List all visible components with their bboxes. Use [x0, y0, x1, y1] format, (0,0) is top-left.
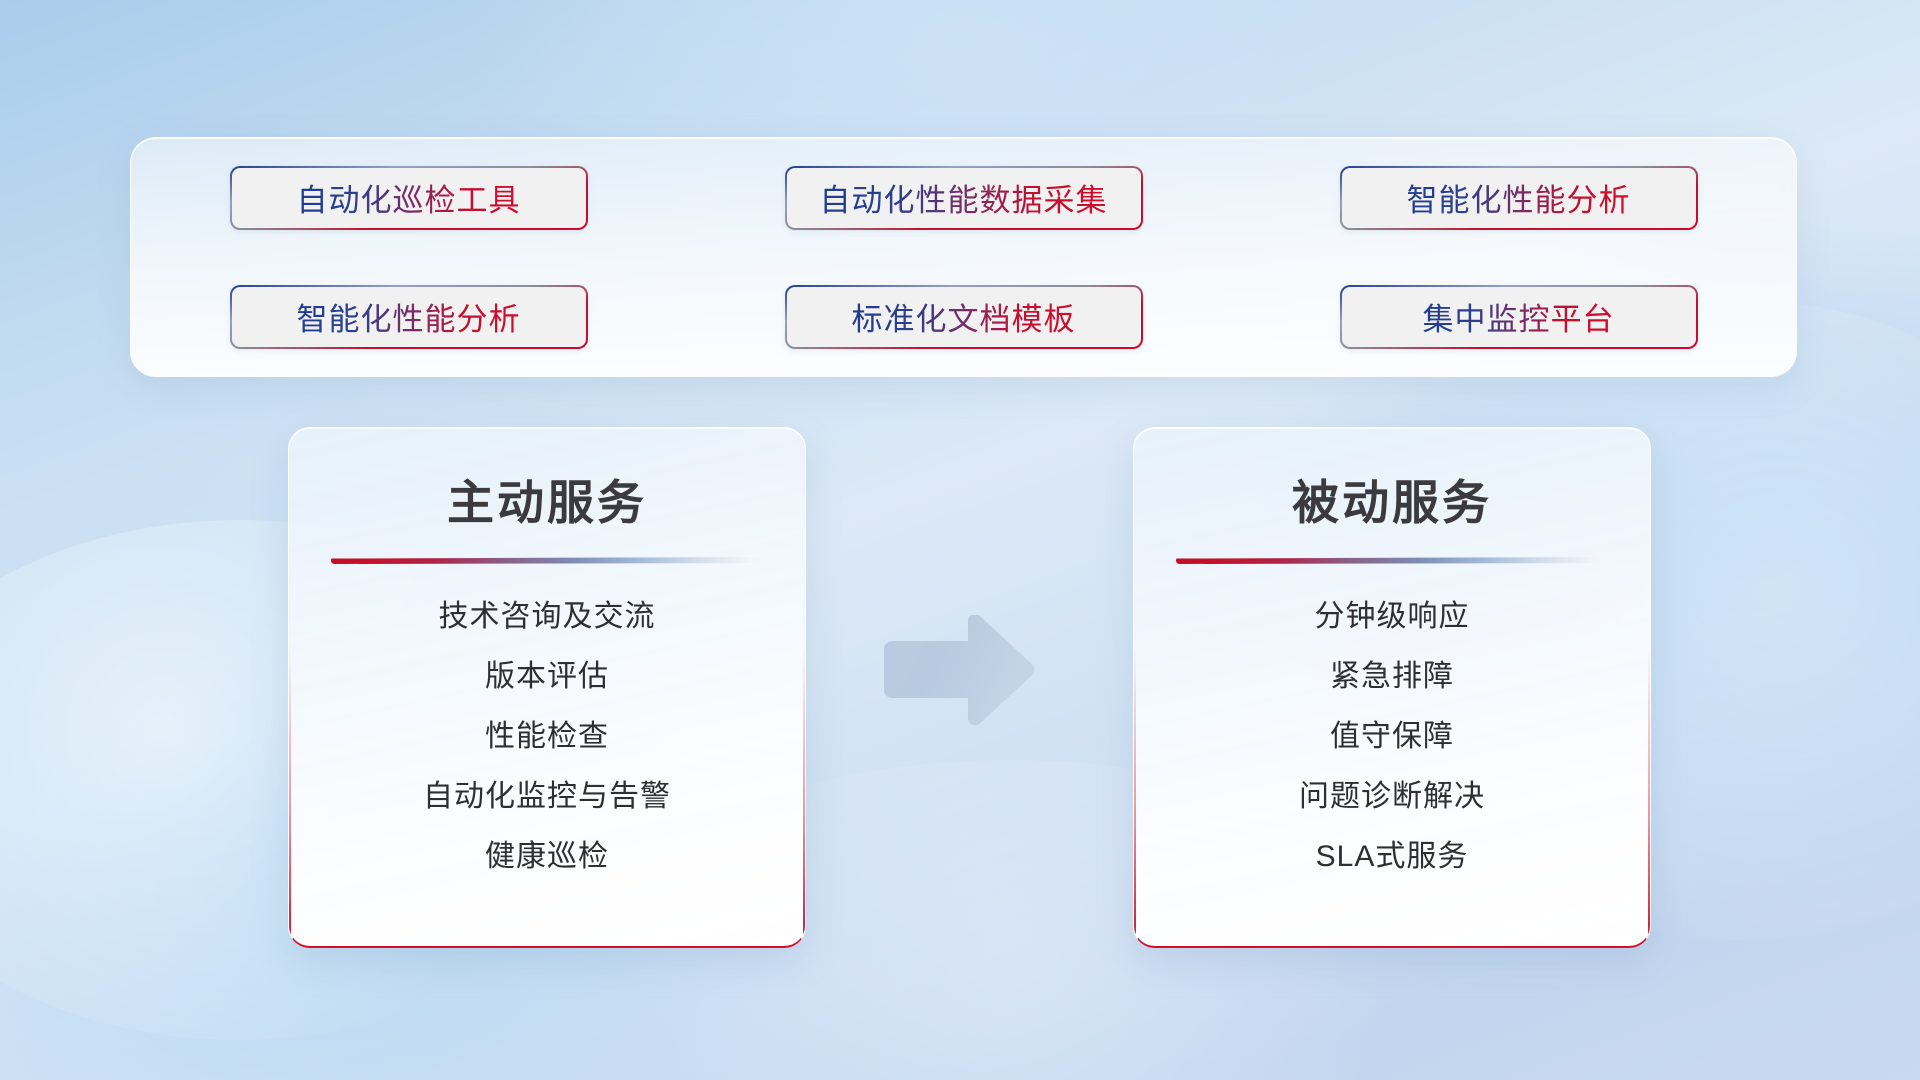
service-item: 值守保障 [1134, 722, 1650, 752]
service-card-title: 主动服务 [289, 428, 805, 533]
service-card-title: 被动服务 [1134, 428, 1650, 533]
capability-tag-label: 自动化性能数据采集 [820, 175, 1108, 220]
service-item: 自动化监控与告警 [289, 782, 805, 812]
title-divider [331, 557, 763, 564]
diagram-canvas: 自动化巡检工具 自动化性能数据采集 智能化性能分析 智能化性能分析 标准化文档模… [0, 0, 1920, 1080]
service-item: 性能检查 [289, 722, 805, 752]
capability-tag[interactable]: 智能化性能分析 [230, 285, 588, 349]
capability-tag-label: 标准化文档模板 [852, 294, 1076, 339]
service-item: SLA式服务 [1134, 842, 1650, 872]
service-item: 分钟级响应 [1134, 602, 1650, 632]
capability-tag-label: 智能化性能分析 [1407, 175, 1631, 220]
service-card-active: 主动服务 技术咨询及交流 版本评估 性能检查 自动化监控与告警 健康巡检 [288, 427, 806, 948]
service-item-list: 分钟级响应 紧急排障 值守保障 问题诊断解决 SLA式服务 [1134, 564, 1650, 872]
capability-tag[interactable]: 自动化巡检工具 [230, 166, 588, 230]
capability-tag[interactable]: 自动化性能数据采集 [785, 166, 1143, 230]
capability-tag[interactable]: 标准化文档模板 [785, 285, 1143, 349]
service-item: 技术咨询及交流 [289, 602, 805, 632]
service-item: 版本评估 [289, 662, 805, 692]
service-item: 紧急排障 [1134, 662, 1650, 692]
title-divider [1176, 557, 1608, 564]
capability-tag[interactable]: 智能化性能分析 [1340, 166, 1698, 230]
arrow-right-icon [878, 615, 1038, 727]
capability-tag[interactable]: 集中监控平台 [1340, 285, 1698, 349]
capability-tag-label: 自动化巡检工具 [297, 175, 521, 220]
capability-tags-panel: 自动化巡检工具 自动化性能数据采集 智能化性能分析 智能化性能分析 标准化文档模… [130, 137, 1797, 377]
capability-tag-label: 智能化性能分析 [297, 294, 521, 339]
service-item-list: 技术咨询及交流 版本评估 性能检查 自动化监控与告警 健康巡检 [289, 564, 805, 872]
capability-tag-label: 集中监控平台 [1423, 294, 1615, 339]
service-item: 问题诊断解决 [1134, 782, 1650, 812]
service-item: 健康巡检 [289, 842, 805, 872]
service-card-passive: 被动服务 分钟级响应 紧急排障 值守保障 问题诊断解决 SLA式服务 [1133, 427, 1651, 948]
